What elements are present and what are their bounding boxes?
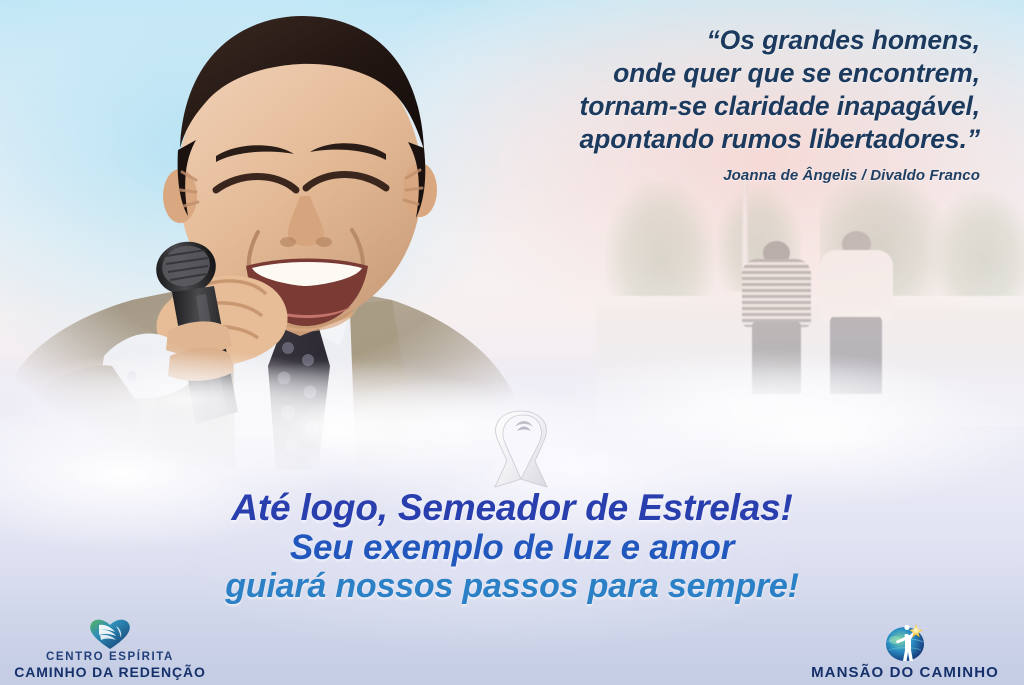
legs: [752, 322, 802, 394]
background-photo: [596, 176, 1024, 426]
mourning-ribbon-icon: [487, 409, 559, 489]
logo-right-text: MANSÃO DO CAMINHO: [811, 664, 999, 681]
torso: [820, 250, 893, 322]
foliage-3: [820, 171, 949, 316]
portrait-photo: [0, 0, 560, 470]
logo-mansao-do-caminho: MANSÃO DO CAMINHO: [800, 620, 1010, 681]
head: [842, 231, 871, 257]
logo-right-line-2: MANSÃO DO CAMINHO: [811, 664, 999, 681]
foliage-1: [605, 181, 717, 311]
quote-block: “Os grandes homens, onde quer que se enc…: [580, 24, 980, 184]
globe-figure-star-icon: [884, 620, 926, 664]
ground: [596, 311, 1024, 426]
wall: [596, 296, 1024, 321]
farewell-message: Até logo, Semeador de Estrelas! Seu exem…: [0, 487, 1024, 605]
message-line-3: guiará nossos passos para sempre!: [0, 567, 1024, 605]
logo-centro-espirita: CENTRO ESPÍRITA CAMINHO DA REDENÇÃO: [10, 616, 210, 681]
foliage-2: [716, 186, 802, 291]
sky-cool-gradient: [0, 0, 500, 360]
quote-attribution: Joanna de Ângelis / Divaldo Franco: [580, 167, 980, 184]
message-line-1: Até logo, Semeador de Estrelas!: [0, 487, 1024, 528]
walking-person-right: [820, 231, 893, 391]
memorial-poster: “Os grandes homens, onde quer que se enc…: [0, 0, 1024, 685]
message-line-2: Seu exemplo de luz e amor: [0, 528, 1024, 567]
walking-person-left: [742, 241, 811, 391]
logo-left-line-1: CENTRO ESPÍRITA: [14, 650, 206, 664]
heart-hands-icon: [87, 616, 133, 650]
quote-line-2: onde quer que se encontrem,: [580, 57, 980, 90]
pole: [742, 176, 748, 316]
legs: [830, 317, 883, 394]
logo-left-line-2: CAMINHO DA REDENÇÃO: [14, 664, 206, 681]
head: [763, 241, 791, 265]
logo-left-text: CENTRO ESPÍRITA CAMINHO DA REDENÇÃO: [14, 650, 206, 681]
foliage-4: [931, 191, 1024, 306]
quote-line-1: “Os grandes homens,: [580, 24, 980, 57]
torso: [742, 259, 811, 327]
quote-line-4: apontando rumos libertadores.”: [580, 123, 980, 156]
quote-line-3: tornam-se claridade inapagável,: [580, 90, 980, 123]
